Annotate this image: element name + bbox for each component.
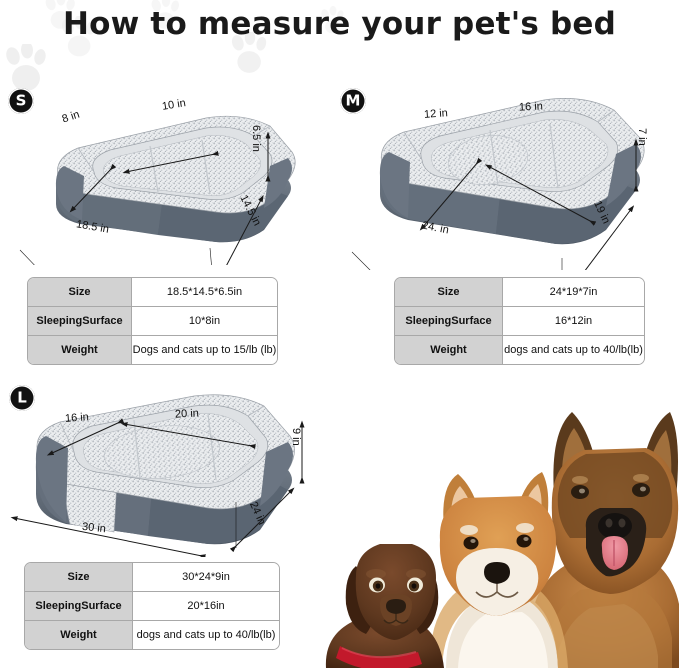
spec-value-weight: Dogs and cats up to 15/lb (lb) (132, 336, 277, 364)
dimension-arrows-large (0, 382, 320, 557)
spec-value-sleeping-surface: 20*16in (133, 592, 279, 620)
spec-label-size: Size (395, 278, 503, 306)
infographic-canvas: How to measure your pet's bed S (0, 0, 679, 668)
chocolate-labrador-puppy (326, 544, 444, 668)
dimension-arrows-medium (340, 80, 679, 270)
spec-label-sleeping-surface: SleepingSurface (395, 307, 503, 335)
spec-value-size: 24*19*7in (503, 278, 644, 306)
spec-value-size: 18.5*14.5*6.5in (132, 278, 277, 306)
spec-label-weight: Weight (28, 336, 132, 364)
spec-label-size: Size (28, 278, 132, 306)
spec-value-weight: dogs and cats up to 40/lb(lb) (133, 621, 279, 649)
table-row: Size 30*24*9in (25, 563, 279, 592)
spec-label-weight: Weight (25, 621, 133, 649)
spec-label-sleeping-surface: SleepingSurface (28, 307, 132, 335)
spec-table-medium: Size 24*19*7in SleepingSurface 16*12in W… (394, 277, 645, 365)
shiba-inu (430, 472, 568, 668)
table-row: SleepingSurface 16*12in (395, 307, 644, 336)
table-row: Weight Dogs and cats up to 15/lb (lb) (28, 336, 277, 364)
spec-label-weight: Weight (395, 336, 503, 364)
table-row: SleepingSurface 10*8in (28, 307, 277, 336)
table-row: Weight dogs and cats up to 40/lb(lb) (395, 336, 644, 364)
spec-table-small: Size 18.5*14.5*6.5in SleepingSurface 10*… (27, 277, 278, 365)
spec-label-size: Size (25, 563, 133, 591)
spec-value-sleeping-surface: 10*8in (132, 307, 277, 335)
three-dogs-photo (318, 398, 679, 668)
table-row: Weight dogs and cats up to 40/lb(lb) (25, 621, 279, 649)
dimension-arrows-small (0, 80, 320, 265)
spec-value-sleeping-surface: 16*12in (503, 307, 644, 335)
spec-value-size: 30*24*9in (133, 563, 279, 591)
spec-value-weight: dogs and cats up to 40/lb(lb) (503, 336, 644, 364)
page-title: How to measure your pet's bed (0, 6, 679, 42)
table-row: Size 18.5*14.5*6.5in (28, 278, 277, 307)
spec-label-sleeping-surface: SleepingSurface (25, 592, 133, 620)
table-row: SleepingSurface 20*16in (25, 592, 279, 621)
spec-table-large: Size 30*24*9in SleepingSurface 20*16in W… (24, 562, 280, 650)
table-row: Size 24*19*7in (395, 278, 644, 307)
